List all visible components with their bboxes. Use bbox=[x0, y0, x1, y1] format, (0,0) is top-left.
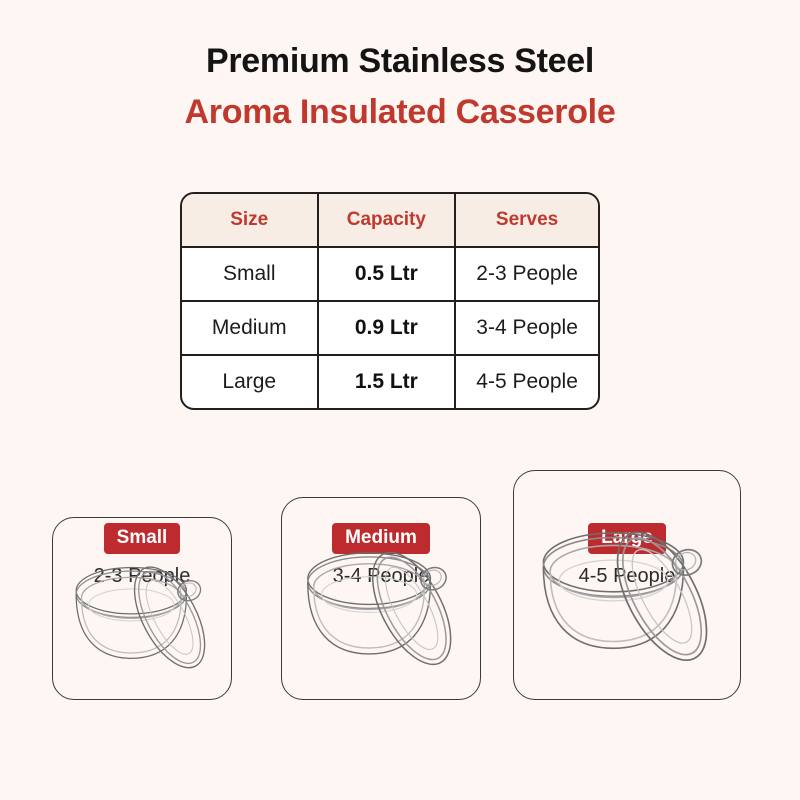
casserole-with-lid-icon bbox=[514, 471, 740, 699]
table-row: Large 1.5 Ltr 4-5 People bbox=[182, 356, 598, 408]
cell-size: Small bbox=[182, 248, 319, 302]
cell-size: Large bbox=[182, 356, 319, 408]
table-header-row: Size Capacity Serves bbox=[182, 194, 598, 248]
cell-capacity: 0.5 Ltr bbox=[319, 248, 457, 302]
casserole-illustration-box-medium bbox=[281, 497, 481, 700]
size-cards-section: Small 2-3 People Medium 3-4 People bbox=[0, 430, 800, 700]
cell-capacity: 0.9 Ltr bbox=[319, 302, 457, 356]
title-line-secondary: Aroma Insulated Casserole bbox=[0, 91, 800, 133]
cell-capacity: 1.5 Ltr bbox=[319, 356, 457, 408]
cell-serves: 3-4 People bbox=[456, 302, 598, 356]
casserole-with-lid-icon bbox=[282, 498, 480, 699]
casserole-illustration-box-large bbox=[513, 470, 741, 700]
specification-table: Size Capacity Serves Small 0.5 Ltr 2-3 P… bbox=[180, 192, 600, 410]
table-row: Small 0.5 Ltr 2-3 People bbox=[182, 248, 598, 302]
column-header-serves: Serves bbox=[456, 194, 598, 248]
casserole-with-lid-icon bbox=[53, 518, 231, 699]
column-header-size: Size bbox=[182, 194, 319, 248]
cell-size: Medium bbox=[182, 302, 319, 356]
title-line-primary: Premium Stainless Steel bbox=[0, 40, 800, 82]
spec-table-container: Size Capacity Serves Small 0.5 Ltr 2-3 P… bbox=[180, 192, 600, 410]
casserole-illustration-box-small bbox=[52, 517, 232, 700]
page-title: Premium Stainless Steel Aroma Insulated … bbox=[0, 40, 800, 133]
column-header-capacity: Capacity bbox=[319, 194, 457, 248]
cell-serves: 2-3 People bbox=[456, 248, 598, 302]
cell-serves: 4-5 People bbox=[456, 356, 598, 408]
table-row: Medium 0.9 Ltr 3-4 People bbox=[182, 302, 598, 356]
